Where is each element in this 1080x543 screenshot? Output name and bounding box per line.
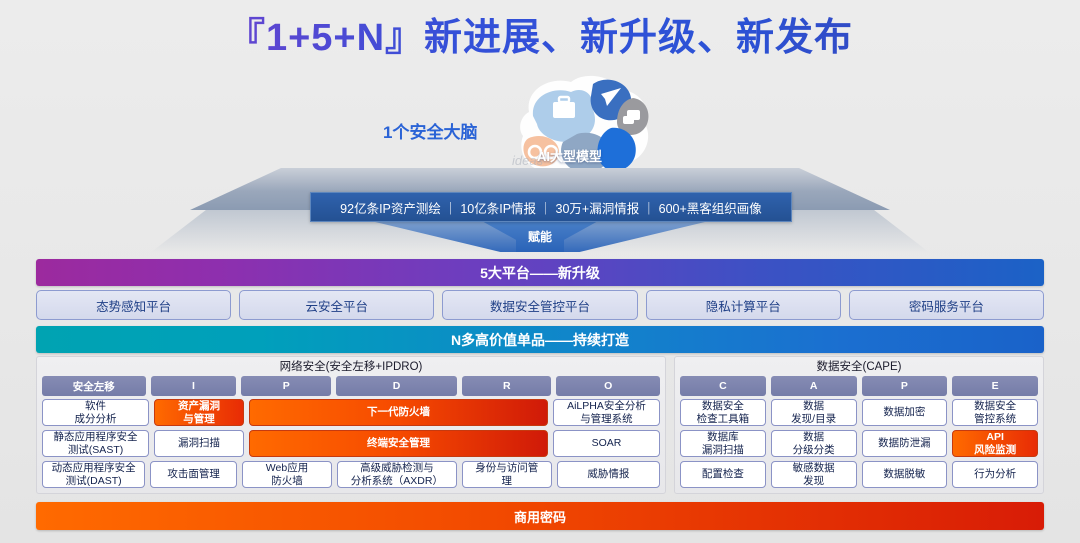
product-cell[interactable]: 资产漏洞与管理: [154, 399, 244, 426]
product-cell[interactable]: 终端安全管理: [249, 430, 548, 457]
platform-button-4[interactable]: 隐私计算平台: [646, 290, 841, 320]
platform-button-3[interactable]: 数据安全管控平台: [442, 290, 637, 320]
data-panel-title: 数据安全(CAPE): [680, 359, 1038, 376]
product-cell[interactable]: 行为分析: [952, 461, 1038, 488]
product-cell[interactable]: 软件成分分析: [42, 399, 149, 426]
page-title: 『1+5+N』新进展、新升级、新发布: [0, 6, 1080, 61]
data-security-panel: 数据安全(CAPE) CAPE 数据安全检查工具箱数据发现/目录数据加密数据安全…: [674, 356, 1044, 494]
column-header-data-1: A: [771, 376, 857, 396]
product-cell[interactable]: 攻击面管理: [150, 461, 237, 488]
product-cell[interactable]: 动态应用程序安全测试(DAST): [42, 461, 145, 488]
product-cell[interactable]: 数据安全检查工具箱: [680, 399, 766, 426]
product-cell[interactable]: 数据发现/目录: [771, 399, 857, 426]
product-row: 静态应用程序安全测试(SAST)漏洞扫描终端安全管理SOAR: [42, 430, 660, 457]
column-header-network-3: D: [336, 376, 457, 396]
column-header-network-5: O: [556, 376, 660, 396]
product-row: 软件成分分析资产漏洞与管理下一代防火墙AiLPHA安全分析与管理系统: [42, 399, 660, 426]
product-cell[interactable]: AiLPHA安全分析与管理系统: [553, 399, 660, 426]
product-row: 配置检查敏感数据发现数据脱敏行为分析: [680, 461, 1038, 488]
product-cell[interactable]: 漏洞扫描: [154, 430, 244, 457]
product-row: 数据库漏洞扫描数据分级分类数据防泄漏API风险监测: [680, 430, 1038, 457]
product-cell[interactable]: 数据加密: [862, 399, 948, 426]
product-cell[interactable]: 数据库漏洞扫描: [680, 430, 766, 457]
product-cell[interactable]: 身份与访问管理: [462, 461, 552, 488]
product-cell[interactable]: 下一代防火墙: [249, 399, 548, 426]
products-section-bar: N多高价值单品——持续打造: [36, 326, 1044, 353]
product-cell[interactable]: 数据防泄漏: [862, 430, 948, 457]
platform-button-2[interactable]: 云安全平台: [239, 290, 434, 320]
column-header-network-2: P: [241, 376, 330, 396]
commercial-cryptography-bar: 商用密码: [36, 502, 1044, 530]
column-header-network-4: R: [462, 376, 551, 396]
network-security-panel: 网络安全(安全左移+IPDRO) 安全左移IPDRO 软件成分分析资产漏洞与管理…: [36, 356, 666, 494]
product-cell[interactable]: Web应用防火墙: [242, 461, 332, 488]
data-column-headers: CAPE: [680, 376, 1038, 396]
product-cell[interactable]: API风险监测: [952, 430, 1038, 457]
platforms-section-bar: 5大平台——新升级: [36, 259, 1044, 286]
platform-button-5[interactable]: 密码服务平台: [849, 290, 1044, 320]
product-cell[interactable]: 配置检查: [680, 461, 766, 488]
network-panel-title: 网络安全(安全左移+IPDRO): [42, 359, 660, 376]
product-cell[interactable]: 威胁情报: [557, 461, 660, 488]
product-cell[interactable]: SOAR: [553, 430, 660, 457]
product-row: 数据安全检查工具箱数据发现/目录数据加密数据安全管控系统: [680, 399, 1038, 426]
network-column-headers: 安全左移IPDRO: [42, 376, 660, 396]
product-cell[interactable]: 数据安全管控系统: [952, 399, 1038, 426]
platform-button-row: 态势感知平台云安全平台数据安全管控平台隐私计算平台密码服务平台: [36, 290, 1044, 320]
product-cell[interactable]: 静态应用程序安全测试(SAST): [42, 430, 149, 457]
column-header-network-1: I: [151, 376, 237, 396]
product-cell[interactable]: 高级威胁检测与分析系统（AXDR）: [337, 461, 457, 488]
column-header-data-2: P: [862, 376, 948, 396]
product-cell[interactable]: 敏感数据发现: [771, 461, 857, 488]
ai-model-label: AI大型模型: [537, 146, 602, 165]
column-header-network-0: 安全左移: [42, 376, 146, 396]
platform-button-1[interactable]: 态势感知平台: [36, 290, 231, 320]
column-header-data-0: C: [680, 376, 766, 396]
product-row: 动态应用程序安全测试(DAST)攻击面管理Web应用防火墙高级威胁检测与分析系统…: [42, 461, 660, 488]
security-brain-label: 1个安全大脑: [383, 118, 477, 143]
column-header-data-3: E: [952, 376, 1038, 396]
network-product-grid: 软件成分分析资产漏洞与管理下一代防火墙AiLPHA安全分析与管理系统静态应用程序…: [42, 399, 660, 488]
product-cell[interactable]: 数据脱敏: [862, 461, 948, 488]
product-matrix: 网络安全(安全左移+IPDRO) 安全左移IPDRO 软件成分分析资产漏洞与管理…: [36, 356, 1044, 494]
capability-data-bar: 92亿条IP资产测绘 ｜ 10亿条IP情报 ｜ 30万+漏洞情报 ｜ 600+黑…: [310, 192, 792, 222]
funnel-label: 赋能: [0, 228, 1080, 245]
data-product-grid: 数据安全检查工具箱数据发现/目录数据加密数据安全管控系统数据库漏洞扫描数据分级分…: [680, 399, 1038, 488]
product-cell[interactable]: 数据分级分类: [771, 430, 857, 457]
